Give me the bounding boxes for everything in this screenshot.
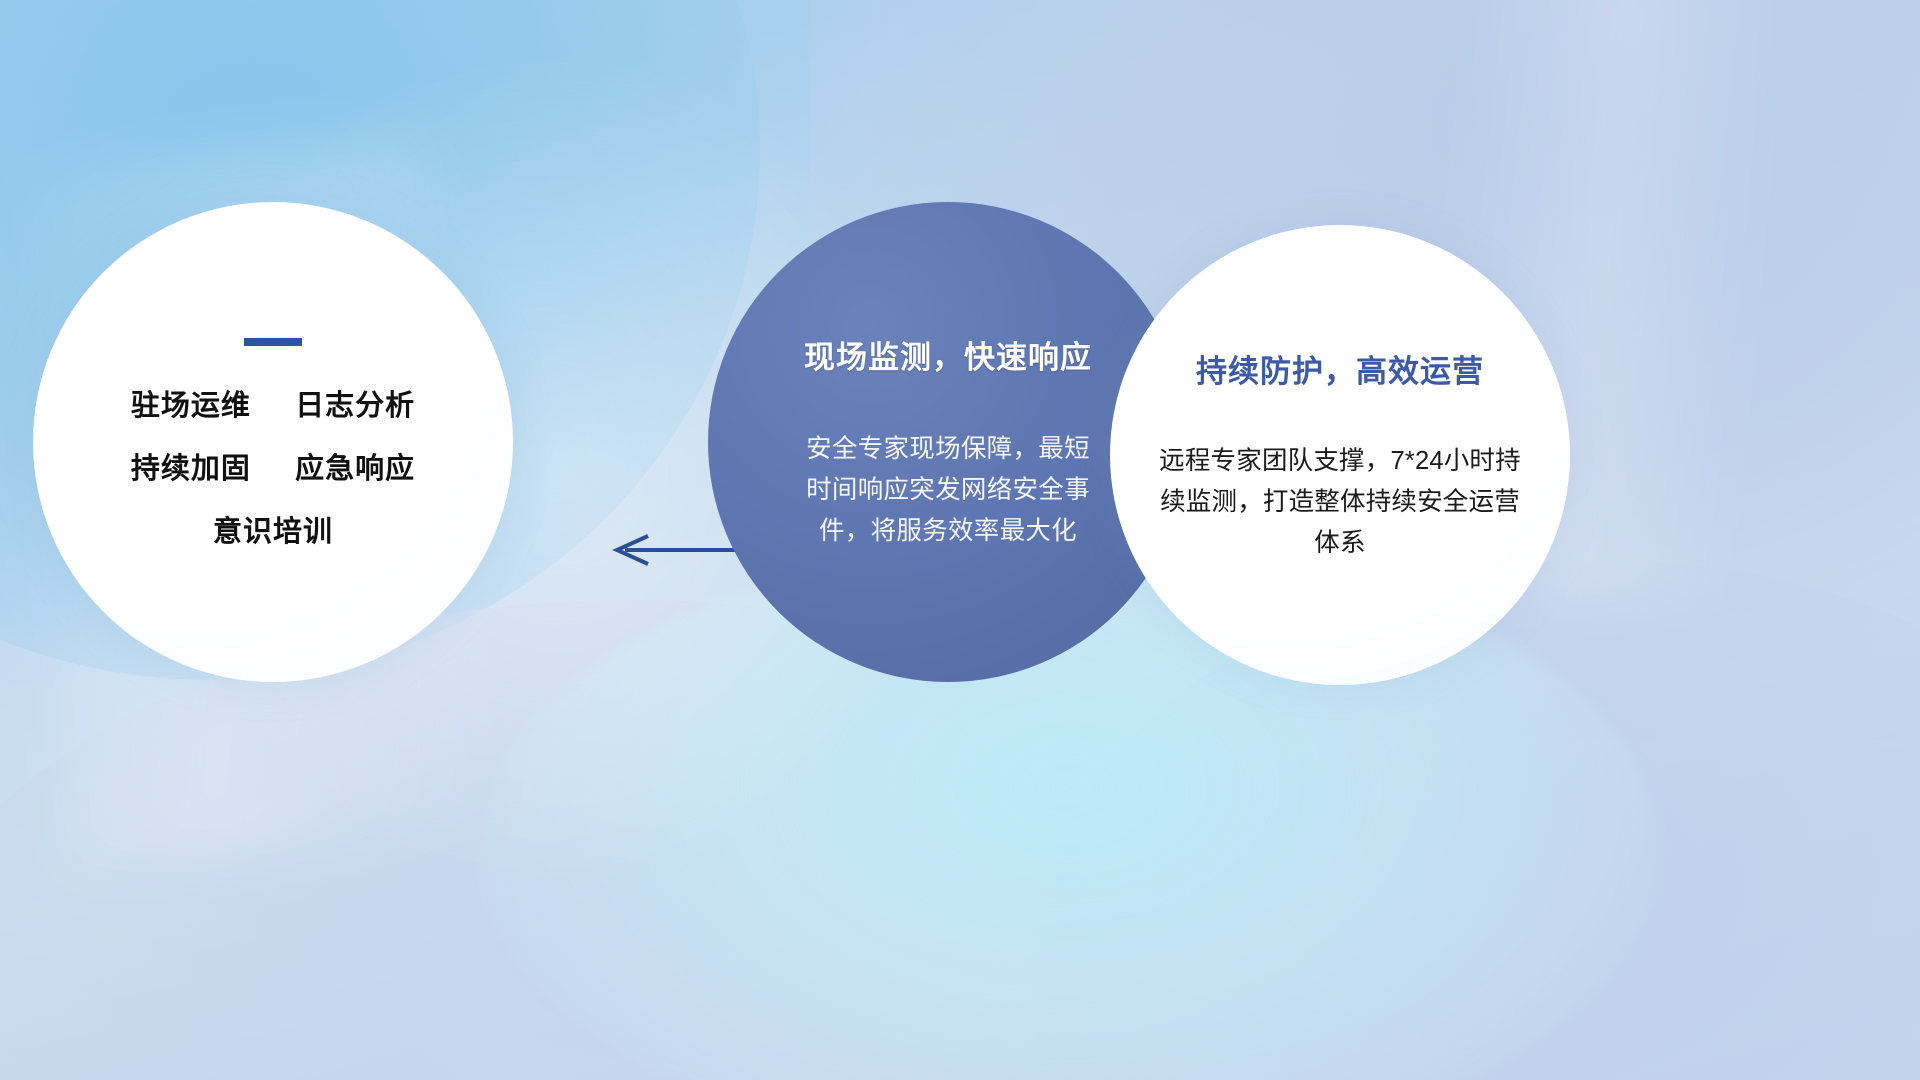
decorative-dash [244,338,302,346]
node-body: 安全专家现场保障，最短时间响应突发网络安全事件，将服务效率最大化 [803,429,1093,553]
capability-row: 意识培训 [213,518,333,547]
capability-row: 持续加固 应急响应 [131,455,415,484]
node-body: 远程专家团队支撑，7*24小时持续监测，打造整体持续安全运营体系 [1157,441,1523,565]
capability-label: 日志分析 [295,390,415,422]
capability-label: 持续加固 [131,453,251,485]
capability-label: 意识培训 [213,516,333,548]
node-title: 现场监测，快速响应 [804,332,1092,377]
capability-label: 应急响应 [295,453,415,485]
capability-row: 驻场运维 日志分析 [131,392,415,421]
capability-label: 驻场运维 [131,390,251,422]
node-title: 持续防护，高效运营 [1196,346,1484,391]
circle-node-continuous-protection[interactable]: 持续防护，高效运营 远程专家团队支撑，7*24小时持续监测，打造整体持续安全运营… [1110,225,1570,685]
circle-node-capabilities[interactable]: 驻场运维 日志分析 持续加固 应急响应 意识培训 [33,202,513,682]
